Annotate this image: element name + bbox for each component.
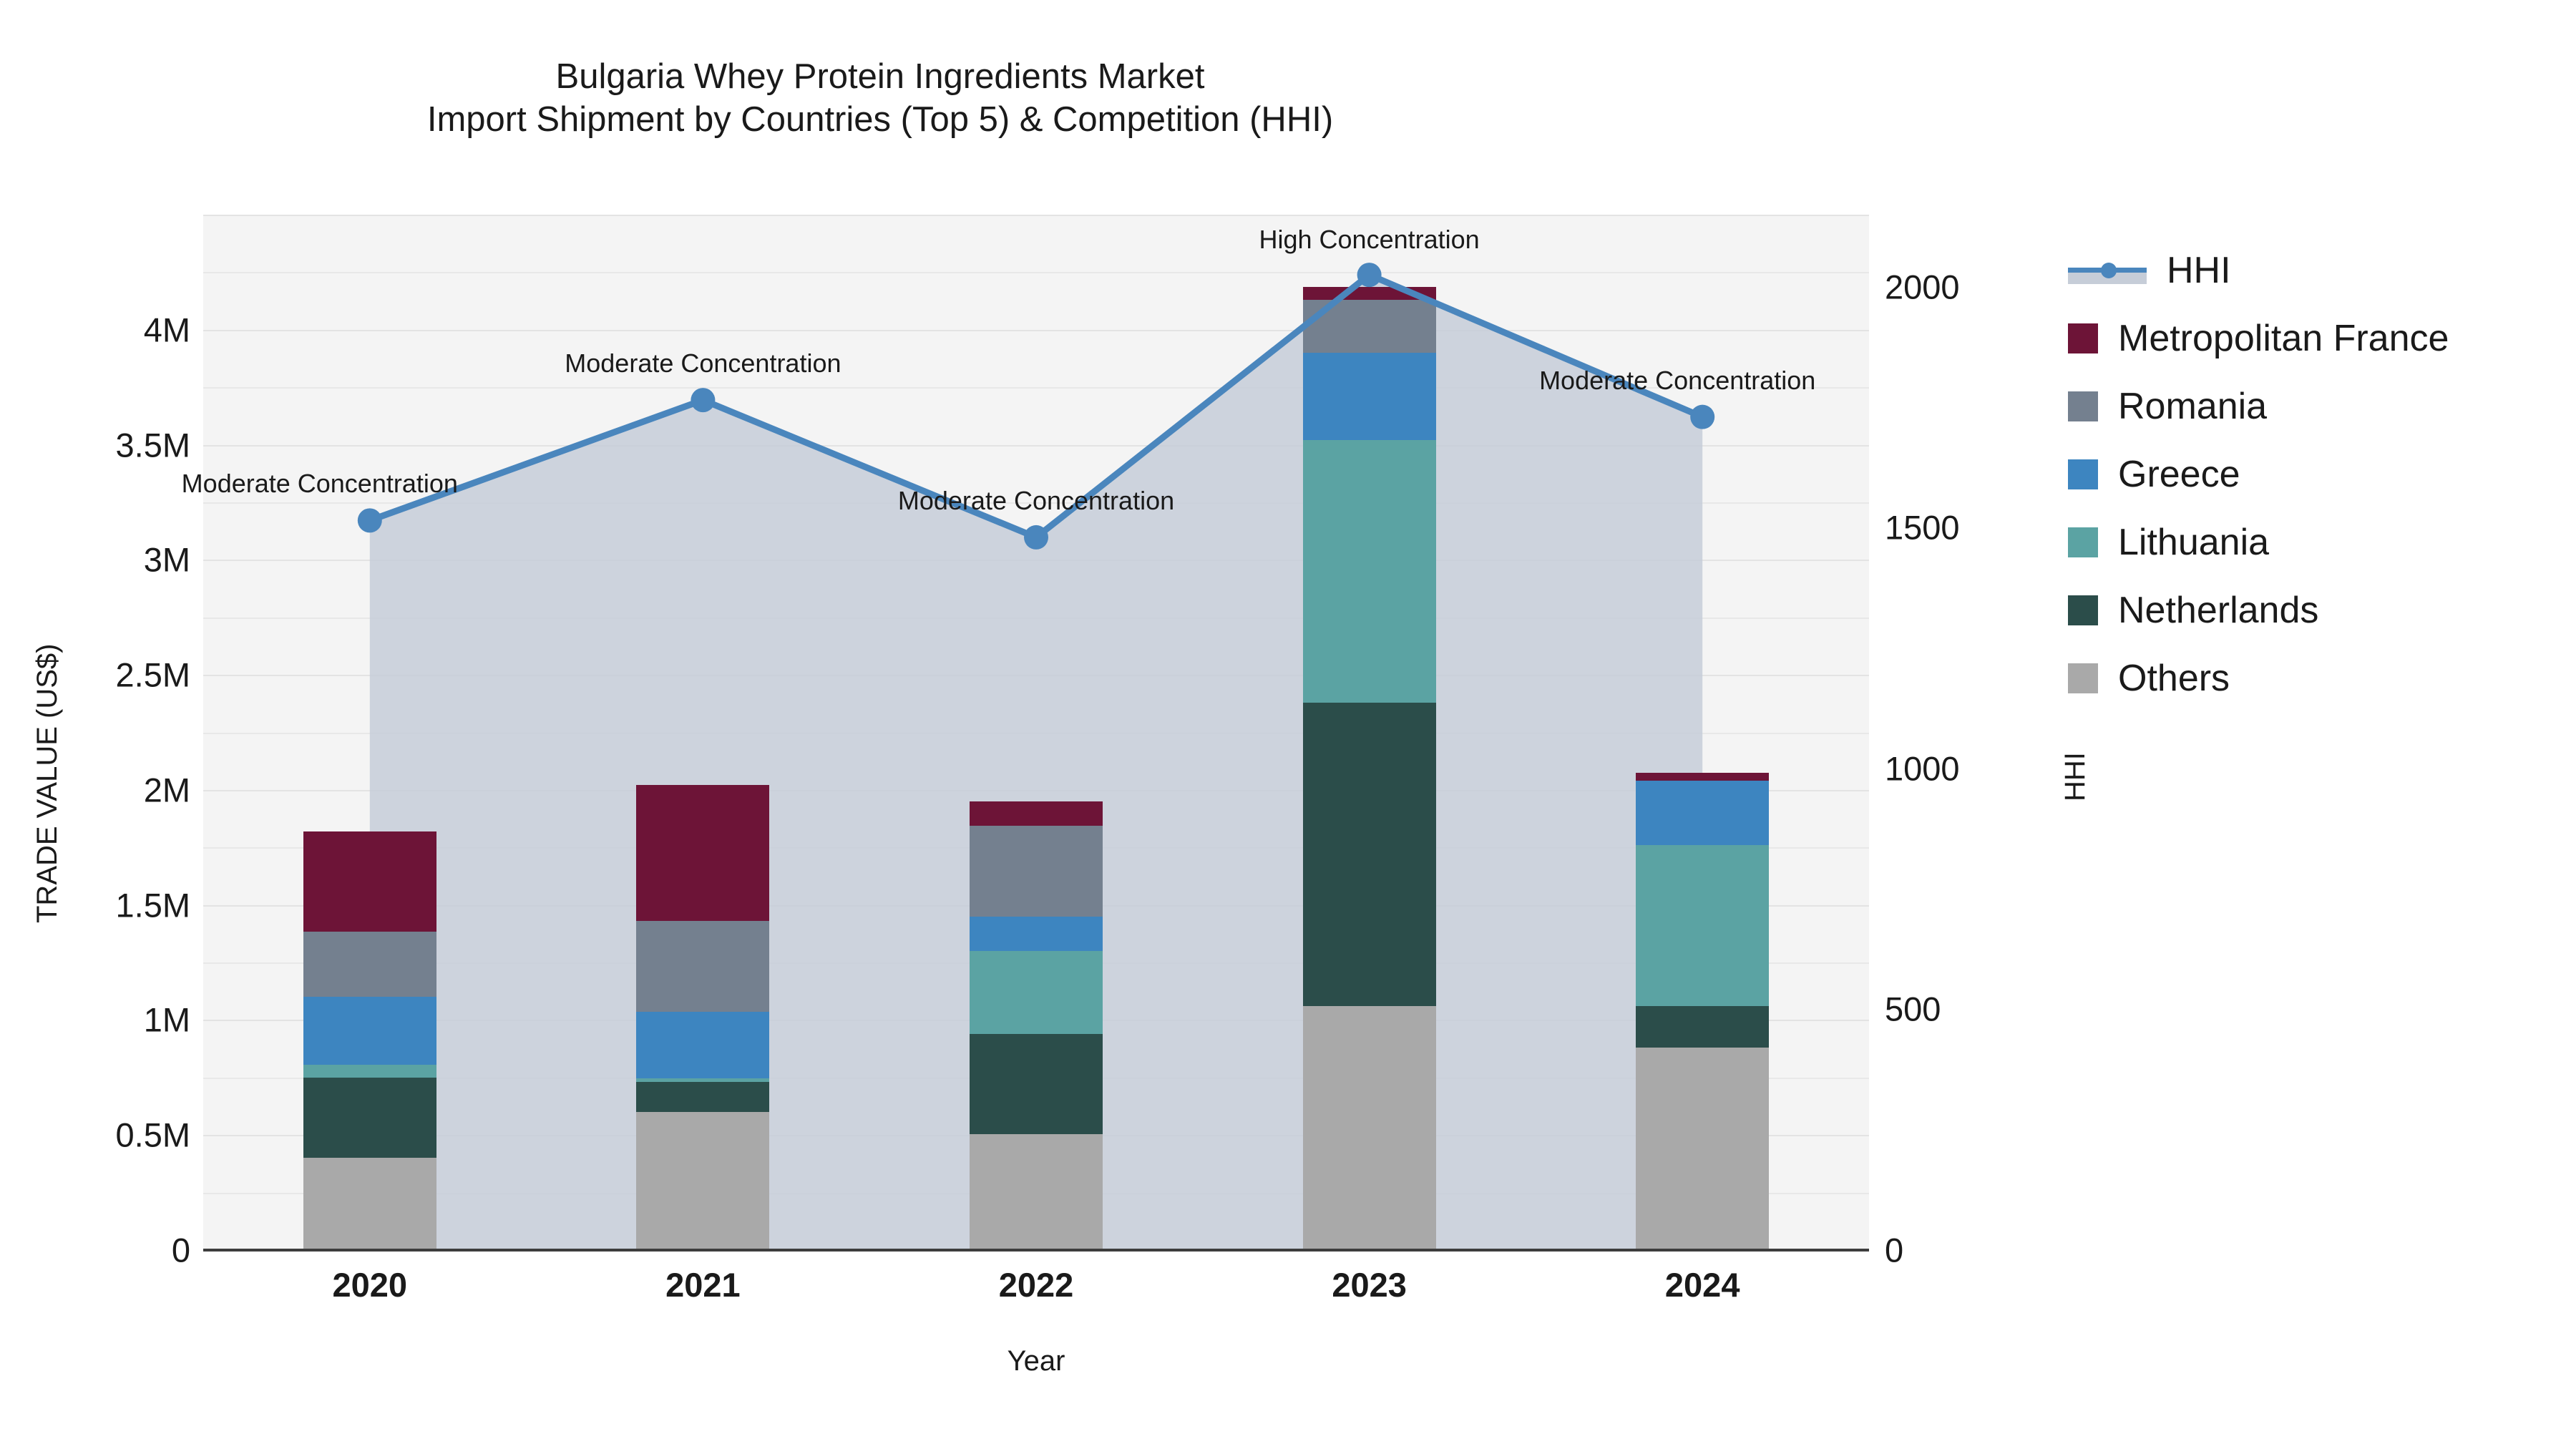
legend-swatch-icon — [2068, 459, 2098, 489]
legend-item-netherlands[interactable]: Netherlands — [2068, 576, 2449, 644]
y-axis-tick-label: 2.5M — [116, 655, 191, 695]
y-axis-right-tick-label: 1000 — [1885, 748, 1960, 788]
hhi-marker[interactable] — [358, 508, 382, 532]
x-axis-line — [203, 1249, 1869, 1252]
legend-swatch-icon — [2068, 391, 2098, 421]
y-axis-left-ticks: 00.5M1M1.5M2M2.5M3M3.5M4M — [0, 0, 190, 1449]
y-axis-right-tick-label: 2000 — [1885, 267, 1960, 306]
chart-subtitle: Import Shipment by Countries (Top 5) & C… — [0, 99, 1760, 142]
legend-line-icon — [2068, 255, 2147, 286]
y-axis-tick-label: 4M — [144, 310, 190, 349]
x-axis-tick-label: 2022 — [999, 1265, 1074, 1304]
legend-swatch-icon — [2068, 527, 2098, 557]
legend-item-label: Romania — [2118, 385, 2267, 428]
legend-item-lithuania[interactable]: Lithuania — [2068, 508, 2449, 576]
x-axis-tick-label: 2020 — [333, 1265, 408, 1304]
y-axis-tick-label: 2M — [144, 770, 190, 809]
hhi-annotation-label: Moderate Concentration — [182, 469, 458, 499]
legend-item-others[interactable]: Others — [2068, 644, 2449, 712]
y-axis-title: TRADE VALUE (US$) — [31, 644, 64, 923]
legend-item-label: Lithuania — [2118, 521, 2269, 564]
legend-item-metropolitan-france[interactable]: Metropolitan France — [2068, 304, 2449, 372]
legend-item-romania[interactable]: Romania — [2068, 372, 2449, 440]
chart-title: Bulgaria Whey Protein Ingredients Market — [0, 56, 1760, 99]
y-axis-tick-label: 1.5M — [116, 885, 191, 924]
legend-item-label: Metropolitan France — [2118, 317, 2449, 360]
y-axis-right-tick-label: 0 — [1885, 1231, 1903, 1270]
hhi-annotation-label: Moderate Concentration — [898, 486, 1174, 516]
hhi-marker[interactable] — [1357, 263, 1382, 287]
y-axis-right-tick-label: 500 — [1885, 990, 1941, 1029]
legend-item-label: Greece — [2118, 453, 2240, 496]
hhi-marker[interactable] — [691, 388, 715, 412]
y-axis-tick-label: 3M — [144, 540, 190, 580]
hhi-annotation-label: Moderate Concentration — [1539, 366, 1815, 396]
hhi-annotation-label: Moderate Concentration — [565, 348, 841, 379]
x-axis-tick-label: 2021 — [665, 1265, 741, 1304]
y-axis-right-ticks: 0500100015002000 — [1885, 0, 2171, 1449]
legend-item-hhi[interactable]: HHI — [2068, 236, 2449, 304]
hhi-annotation-label: High Concentration — [1259, 225, 1480, 255]
x-axis-tick-label: 2024 — [1665, 1265, 1740, 1304]
legend-swatch-icon — [2068, 663, 2098, 693]
y-axis-tick-label: 0 — [172, 1231, 190, 1270]
chart-legend: HHIMetropolitan FranceRomaniaGreeceLithu… — [2068, 236, 2449, 712]
chart-canvas: Bulgaria Whey Protein Ingredients Market… — [0, 0, 2576, 1449]
legend-swatch-icon — [2068, 323, 2098, 353]
hhi-marker[interactable] — [1024, 525, 1048, 550]
legend-item-label: HHI — [2167, 249, 2231, 292]
y-axis-tick-label: 0.5M — [116, 1116, 191, 1155]
x-axis-title: Year — [203, 1345, 1869, 1377]
x-axis-tick-label: 2023 — [1332, 1265, 1407, 1304]
y-axis-right-title: HHI — [2059, 752, 2092, 801]
y-axis-right-tick-label: 1500 — [1885, 508, 1960, 547]
legend-item-greece[interactable]: Greece — [2068, 440, 2449, 508]
y-axis-tick-label: 1M — [144, 1000, 190, 1040]
legend-swatch-icon — [2068, 595, 2098, 625]
hhi-marker[interactable] — [1690, 405, 1714, 429]
chart-title-block: Bulgaria Whey Protein Ingredients Market… — [0, 56, 1760, 142]
legend-item-label: Netherlands — [2118, 589, 2318, 632]
y-axis-tick-label: 3.5M — [116, 425, 191, 464]
legend-item-label: Others — [2118, 657, 2230, 700]
